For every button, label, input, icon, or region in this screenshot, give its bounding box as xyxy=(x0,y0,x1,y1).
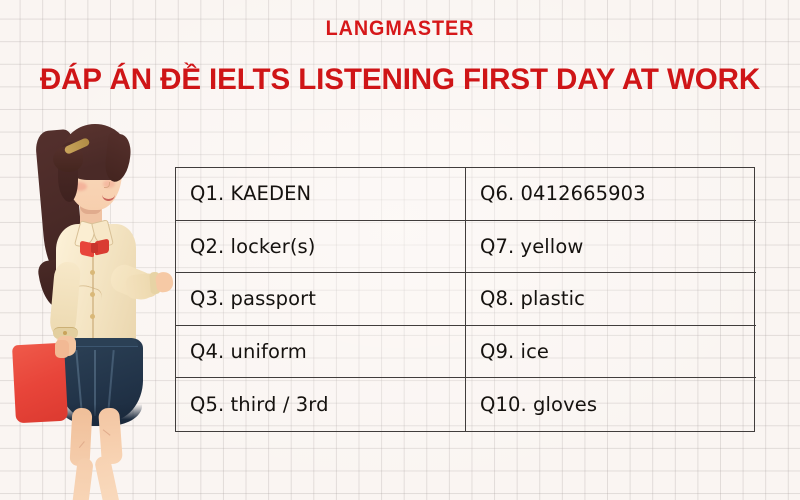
table-cell-q7: Q7. yellow xyxy=(466,221,756,274)
blouse-button xyxy=(90,292,95,297)
table-cell-q1: Q1. KAEDEN xyxy=(176,168,466,221)
table-cell-q4: Q4. uniform xyxy=(176,326,466,379)
hair-sweep xyxy=(104,133,133,183)
blouse-button xyxy=(90,314,95,319)
poster-canvas: LANGMASTER ĐÁP ÁN ĐỀ IELTS LISTENING FIR… xyxy=(0,0,800,500)
blouse-placket xyxy=(92,252,94,344)
bowtie-knot xyxy=(91,243,98,253)
table-cell-q3: Q3. passport xyxy=(176,273,466,326)
blouse-button xyxy=(90,270,95,275)
table-cell-q6: Q6. 0412665903 xyxy=(466,168,756,221)
left-cuff-button xyxy=(63,331,67,335)
table-cell-q8: Q8. plastic xyxy=(466,273,756,326)
clipboard-grip-fingers xyxy=(55,340,69,358)
table-cell-q9: Q9. ice xyxy=(466,326,756,379)
answers-table: Q1. KAEDEN Q6. 0412665903 Q2. locker(s) … xyxy=(175,167,755,432)
table-cell-q10: Q10. gloves xyxy=(466,378,756,431)
page-title: ĐÁP ÁN ĐỀ IELTS LISTENING FIRST DAY AT W… xyxy=(6,64,794,96)
langmaster-logo: LANGMASTER xyxy=(24,18,776,39)
right-hand xyxy=(155,271,175,293)
table-cell-q2: Q2. locker(s) xyxy=(176,221,466,274)
student-girl-illustration xyxy=(8,112,183,500)
table-cell-q5: Q5. third / 3rd xyxy=(176,378,466,431)
